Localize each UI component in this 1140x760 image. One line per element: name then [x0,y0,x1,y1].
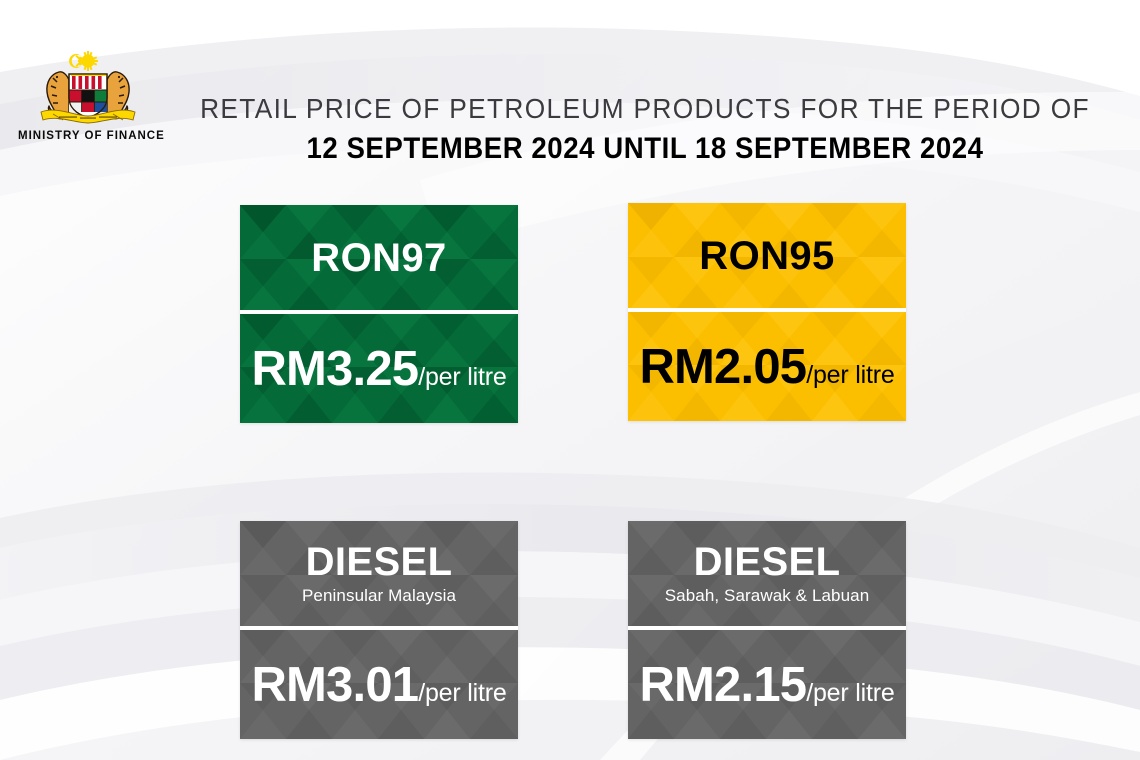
fuel-price-card-grid: RON97 RM3.25 /per litre [0,0,1140,760]
price-value: RM3.25 [251,343,418,395]
fuel-card-ron97[interactable]: RON97 RM3.25 /per litre [240,205,518,423]
price-unit-label: /per litre [418,679,506,708]
fuel-card-diesel-sabah-sarawak-labuan[interactable]: DIESEL Sabah, Sarawak & Labuan RM2.15 /p… [628,521,906,739]
fuel-name-label: DIESEL [306,540,453,584]
fuel-name-label: DIESEL [694,540,841,584]
fuel-name-label: RON97 [311,236,446,280]
fuel-card-header: RON97 [240,205,518,310]
price-value: RM2.15 [639,659,806,711]
fuel-card-header: DIESEL Peninsular Malaysia [240,521,518,626]
fuel-card-header: DIESEL Sabah, Sarawak & Labuan [628,521,906,626]
fuel-card-price-area: RM2.05 /per litre [628,312,906,421]
fuel-region-label: Sabah, Sarawak & Labuan [665,585,870,607]
fuel-card-price-area: RM3.25 /per litre [240,314,518,423]
price-unit-label: /per litre [418,363,506,392]
price-value: RM3.01 [251,659,418,711]
fuel-card-diesel-peninsular[interactable]: DIESEL Peninsular Malaysia RM3.01 /per l… [240,521,518,739]
price-unit-label: /per litre [806,679,894,708]
fuel-name-label: RON95 [699,234,834,278]
fuel-card-ron95[interactable]: RON95 RM2.05 /per litre [628,203,906,421]
fuel-card-header: RON95 [628,203,906,308]
fuel-region-label: Peninsular Malaysia [302,585,456,607]
price-unit-label: /per litre [806,361,894,390]
fuel-card-price-area: RM3.01 /per litre [240,630,518,739]
price-value: RM2.05 [639,341,806,393]
fuel-card-price-area: RM2.15 /per litre [628,630,906,739]
